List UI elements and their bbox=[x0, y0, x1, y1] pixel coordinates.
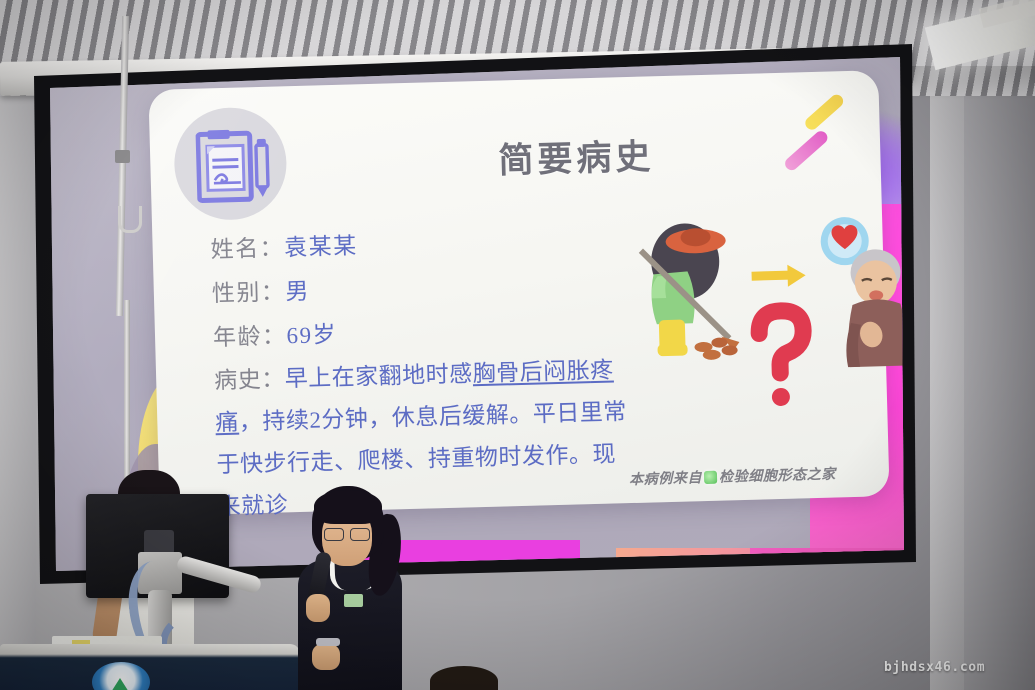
elderly-person-chest-pain bbox=[844, 249, 908, 368]
wall-column-far bbox=[964, 60, 1035, 690]
field-history-label: 病史： bbox=[214, 366, 285, 393]
field-gender-row: 性别：男 bbox=[211, 272, 310, 309]
presenter-wristwatch bbox=[316, 638, 340, 646]
pole-clamp bbox=[115, 150, 130, 163]
green-leaf-badge-icon bbox=[704, 470, 717, 483]
presenter-with-microphone bbox=[296, 486, 408, 690]
field-name-label: 姓名： bbox=[210, 235, 284, 262]
presenter-other-hand bbox=[312, 644, 340, 670]
history-line1-underline: 胸骨后闷胀 bbox=[472, 358, 590, 386]
field-name-value: 袁某某 bbox=[284, 233, 358, 260]
history-line2-plain: ，持续2分钟，休息后缓解。平 bbox=[239, 401, 557, 435]
farmer-to-patient-illustration bbox=[622, 205, 916, 413]
watermark-prefix: 本病例来自 bbox=[629, 467, 703, 489]
slide-card-content: 简要病史 姓名：袁某某 性别：男 年龄：69岁 病史：早上在家翻地时感胸骨后闷胀… bbox=[148, 70, 889, 516]
history-line1-plain: 早上在家翻地时感 bbox=[284, 361, 473, 391]
field-gender-value: 男 bbox=[285, 279, 310, 305]
pole-hook bbox=[118, 206, 142, 233]
presenter-hand-holding-mic bbox=[306, 594, 330, 622]
field-age-label: 年龄： bbox=[213, 323, 287, 350]
slide-watermark: 本病例来自 检验细胞形态之家 bbox=[629, 464, 836, 490]
wall-left-edge bbox=[0, 0, 36, 690]
yellow-right-arrow bbox=[751, 264, 806, 287]
presenter-badge bbox=[344, 594, 363, 607]
slide-title: 简要病史 bbox=[426, 126, 727, 185]
presenter-fringe bbox=[314, 490, 382, 524]
clipboard-document-pen-icon bbox=[195, 127, 271, 205]
watermark-suffix: 检验细胞形态之家 bbox=[719, 464, 836, 487]
red-question-mark bbox=[759, 310, 806, 406]
field-gender-label: 性别： bbox=[212, 279, 286, 306]
lectern bbox=[0, 644, 300, 690]
field-history-block: 病史：早上在家翻地时感胸骨后闷胀疼痛，持续2分钟，休息后缓解。平日里常于快步行走… bbox=[214, 349, 638, 528]
wall-column-near bbox=[930, 40, 966, 690]
audience-head bbox=[430, 666, 498, 690]
presenter-glasses-icon bbox=[324, 528, 370, 539]
screenshot-root: ■■ bbox=[0, 0, 1035, 690]
farmer-hoeing-with-straw-hat bbox=[640, 222, 740, 362]
field-age-value: 69岁 bbox=[286, 322, 337, 348]
field-name-row: 姓名：袁某某 bbox=[210, 226, 358, 264]
field-age-row: 年龄：69岁 bbox=[213, 315, 338, 352]
photo-watermark: bjhdsx46.com bbox=[884, 660, 985, 675]
decor-yellow-stripe bbox=[803, 92, 846, 132]
decor-pink-stripe bbox=[782, 129, 830, 173]
